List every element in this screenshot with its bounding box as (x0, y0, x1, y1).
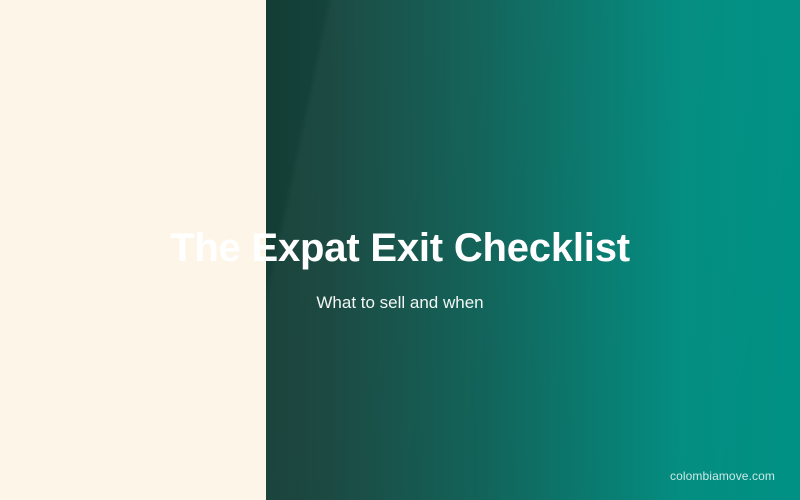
page-title: The Expat Exit Checklist (0, 224, 800, 272)
page-subtitle: What to sell and when (0, 292, 800, 314)
text-layer: The Expat Exit Checklist What to sell an… (0, 0, 800, 500)
footer-brand-label: colombiamove.com (670, 469, 775, 484)
slide-canvas: The Expat Exit Checklist What to sell an… (0, 0, 800, 500)
